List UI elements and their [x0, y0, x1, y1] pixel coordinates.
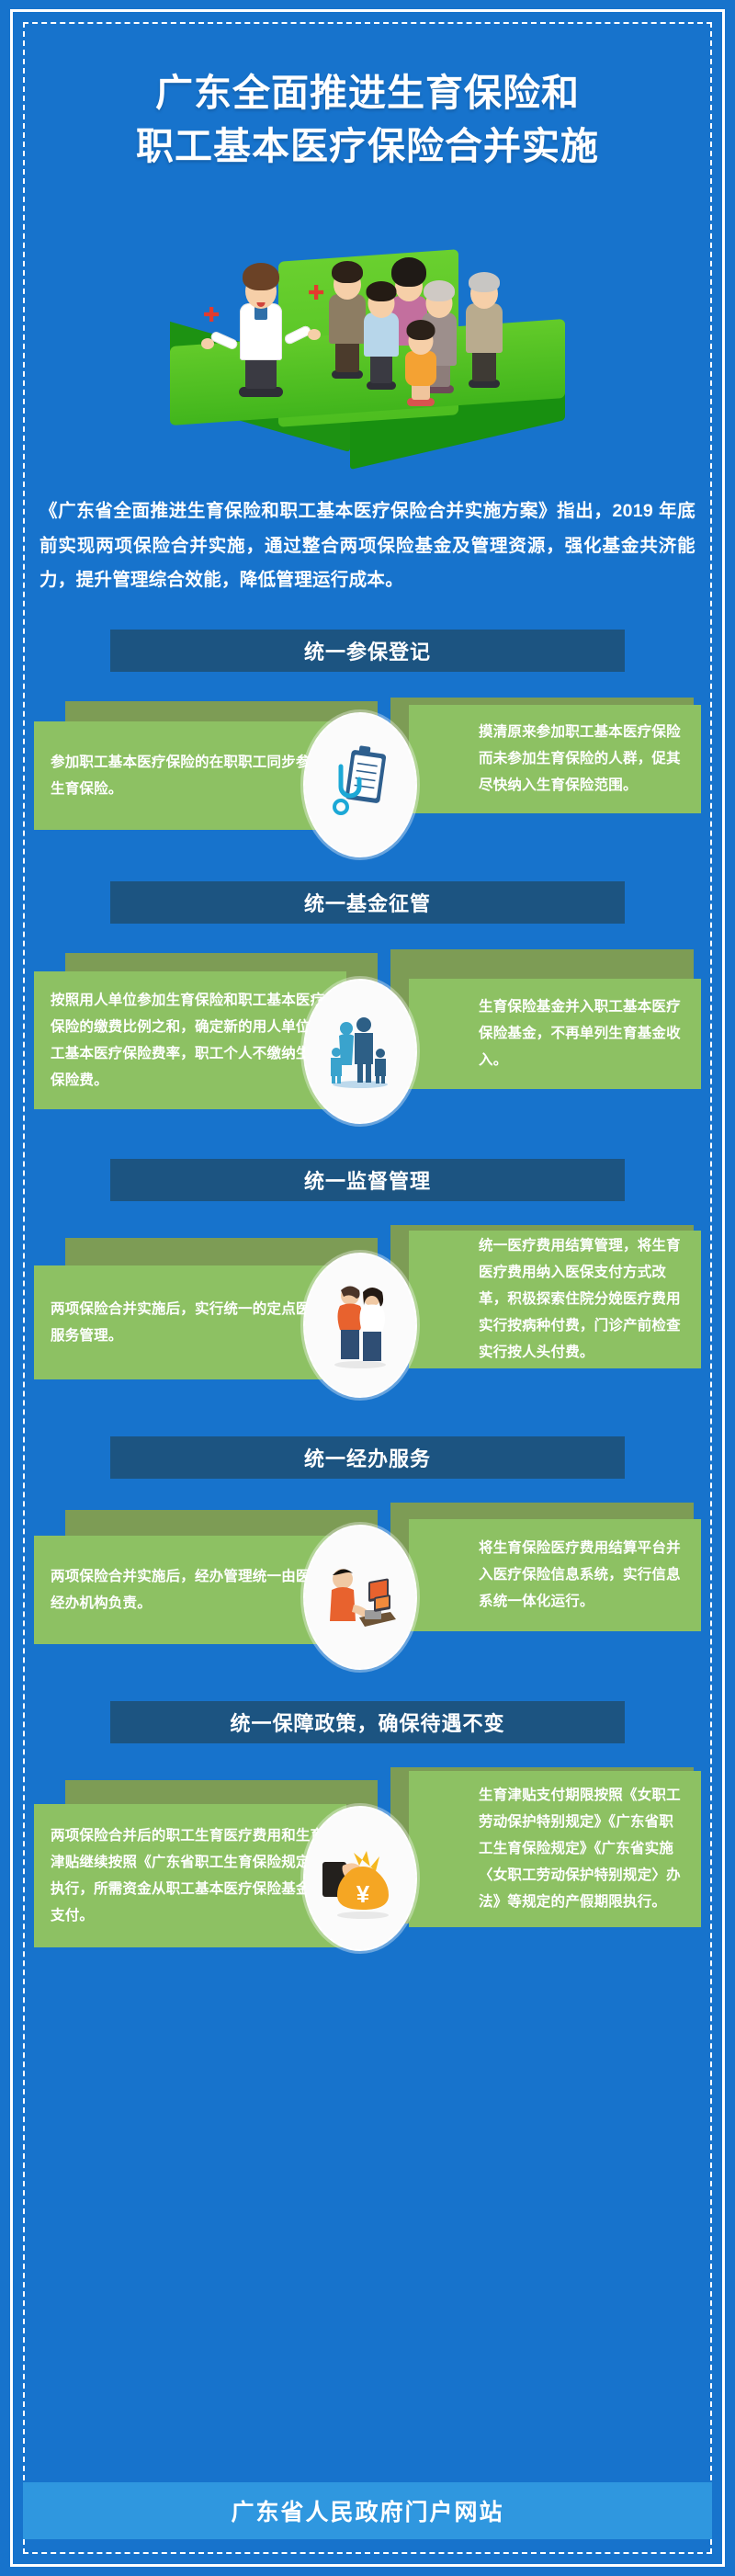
hero-illustration: ✚ ✚ [23, 187, 712, 482]
section-bar-unified-guarantee-policy[interactable]: 统一保障政策，确保待遇不变 [110, 1701, 625, 1743]
money-bag-icon: ¥ [303, 1806, 417, 1951]
intro-paragraph: 《广东省全面推进生育保险和职工基本医疗保险合并实施方案》指出，2019 年底前实… [40, 494, 695, 597]
figure-girl [398, 327, 444, 406]
red-cross-icon-right: ✚ [308, 283, 324, 303]
section-bar-unified-enrollment-registration[interactable]: 统一参保登记 [110, 630, 625, 672]
hero-section: 广东全面推进生育保险和 职工基本医疗保险合并实施 [23, 22, 712, 482]
pregnant-women-icon [303, 1253, 417, 1398]
panel-right-2: 生育保险基金并入职工基本医疗保险基金，不再单列生育基金收入。 [409, 979, 701, 1089]
clipboard-stethoscope-icon [303, 712, 417, 857]
section-block-1: 参加职工基本医疗保险的在职职工同步参加生育保险。 摸清原来参加职工基本医疗保险而… [23, 696, 712, 850]
panel-right-3: 统一医疗费用结算管理，将生育医疗费用纳入医保支付方式改革，积极探索住院分娩医疗费… [409, 1231, 701, 1368]
section-bar-unified-supervision-management[interactable]: 统一监督管理 [110, 1159, 625, 1201]
panel-left-3: 两项保险合并实施后，实行统一的定点医疗服务管理。 [34, 1265, 346, 1379]
figure-doctor [218, 263, 304, 397]
green-cross-platform: ✚ ✚ [170, 239, 565, 469]
red-cross-icon-left: ✚ [203, 305, 220, 325]
section-block-5: 两项保险合并后的职工生育医疗费用和生育津贴继续按照《广东省职工生育保险规定》执行… [23, 1767, 712, 1964]
computer-operator-icon [303, 1525, 417, 1670]
section-bar-unified-handling-service[interactable]: 统一经办服务 [110, 1436, 625, 1479]
svg-text:¥: ¥ [356, 1880, 370, 1908]
panel-right-5: 生育津贴支付期限按照《女职工劳动保护特别规定》《广东省职工生育保险规定》《广东省… [409, 1771, 701, 1927]
panel-left-4: 两项保险合并实施后，经办管理统一由医保经办机构负责。 [34, 1536, 346, 1644]
panel-left-5: 两项保险合并后的职工生育医疗费用和生育津贴继续按照《广东省职工生育保险规定》执行… [34, 1804, 346, 1947]
panel-right-4: 将生育保险医疗费用结算平台并入医疗保险信息系统，实行信息系统一体化运行。 [409, 1519, 701, 1631]
family-icon [303, 979, 417, 1124]
section-block-2: 按照用人单位参加生育保险和职工基本医疗保险的缴费比例之和，确定新的用人单位职工基… [23, 948, 712, 1128]
section-block-4: 两项保险合并实施后，经办管理统一由医保经办机构负责。 将生育保险医疗费用结算平台… [23, 1503, 712, 1670]
section-block-3: 两项保险合并实施后，实行统一的定点医疗服务管理。 统一医疗费用结算管理，将生育医… [23, 1225, 712, 1405]
people-group: ✚ ✚ [170, 239, 565, 414]
footer-bar[interactable]: 广东省人民政府门户网站 [23, 2482, 712, 2539]
figure-elderly-man [458, 268, 510, 388]
infographic-page: 广东全面推进生育保险和 职工基本医疗保险合并实施 [0, 0, 735, 2576]
page-content: 广东全面推进生育保险和 职工基本医疗保险合并实施 [23, 22, 712, 2554]
page-title: 广东全面推进生育保险和 职工基本医疗保险合并实施 [23, 66, 712, 173]
panel-right-1: 摸清原来参加职工基本医疗保险而未参加生育保险的人群，促其尽快纳入生育保险范围。 [409, 705, 701, 813]
page-title-line1: 广东全面推进生育保险和 [23, 66, 712, 119]
footer-label: 广东省人民政府门户网站 [231, 2494, 503, 2527]
page-title-line2: 职工基本医疗保险合并实施 [23, 119, 712, 173]
panel-left-1: 参加职工基本医疗保险的在职职工同步参加生育保险。 [34, 721, 346, 830]
panel-left-2: 按照用人单位参加生育保险和职工基本医疗保险的缴费比例之和，确定新的用人单位职工基… [34, 971, 346, 1109]
section-bar-unified-fund-collection[interactable]: 统一基金征管 [110, 881, 625, 924]
